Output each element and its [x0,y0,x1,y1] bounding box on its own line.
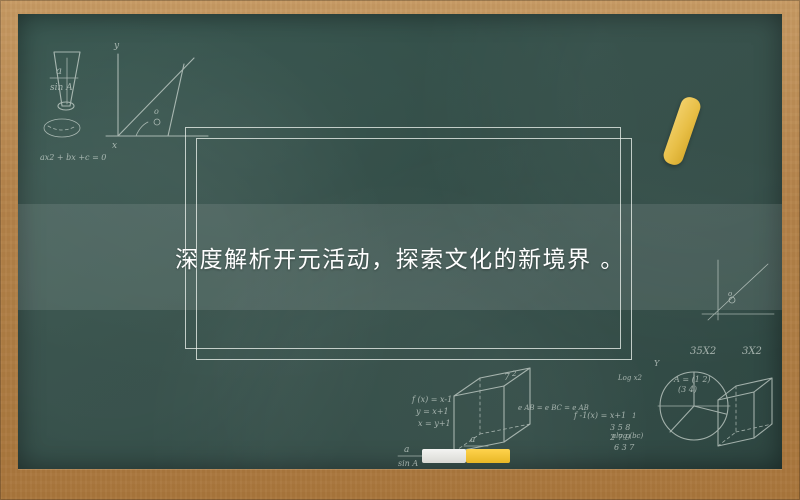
svg-text:6 3 7: 6 3 7 [614,443,635,452]
svg-text:y: y [113,41,120,51]
svg-text:e AB = e BC = e AB: e AB = e BC = e AB [518,404,589,412]
chalkboard-frame: a sin A ax2 + bx +c = 0 y x o [0,0,800,500]
svg-text:Log x2: Log x2 [617,374,643,382]
svg-text:a: a [470,435,475,445]
svg-text:1: 1 [632,412,636,420]
svg-text:y = x+1: y = x+1 [415,407,449,416]
svg-text:sin A: sin A [50,83,73,93]
svg-text:2: 2 [511,370,517,378]
banner-title-text: 深度解析开元活动，探索文化的新境界 。 [175,240,625,274]
svg-text:sin A: sin A [398,459,418,468]
chalk-stick-icon [661,95,703,168]
svg-text:x: x [112,141,117,151]
cone-diagram [44,52,80,137]
svg-text:ax2 + bx +c = 0: ax2 + bx +c = 0 [40,153,106,162]
svg-text:35X2: 35X2 [690,346,716,357]
svg-text:a: a [56,66,62,77]
angle-diagram [106,54,208,136]
svg-text:7: 7 [504,373,510,383]
pie-chart-sketch [658,372,730,440]
eraser-white-icon [422,449,466,463]
svg-text:o: o [154,107,159,116]
chalkboard-surface: a sin A ax2 + bx +c = 0 y x o [18,14,782,469]
svg-text:x = y+1: x = y+1 [418,419,451,428]
svg-text:(3 4): (3 4) [678,385,697,394]
svg-text:f (x) = x-1: f (x) = x-1 [411,395,452,404]
svg-text:3 5 8: 3 5 8 [610,423,630,432]
eraser-yellow-icon [466,449,510,463]
svg-text:A = (1 2): A = (1 2) [673,375,711,384]
title-banner: 深度解析开元活动，探索文化的新境界 。 [18,204,782,310]
box-diagram [718,378,772,446]
svg-text:3X2: 3X2 [742,346,762,357]
cube-diagram [454,368,530,452]
svg-text:f -1(x) = x+1: f -1(x) = x+1 [573,411,626,420]
svg-text:a: a [404,445,409,455]
svg-text:alog (bc): alog (bc) [612,432,643,440]
svg-text:Y: Y [654,359,660,368]
svg-text:2 7 9: 2 7 9 [609,433,630,442]
